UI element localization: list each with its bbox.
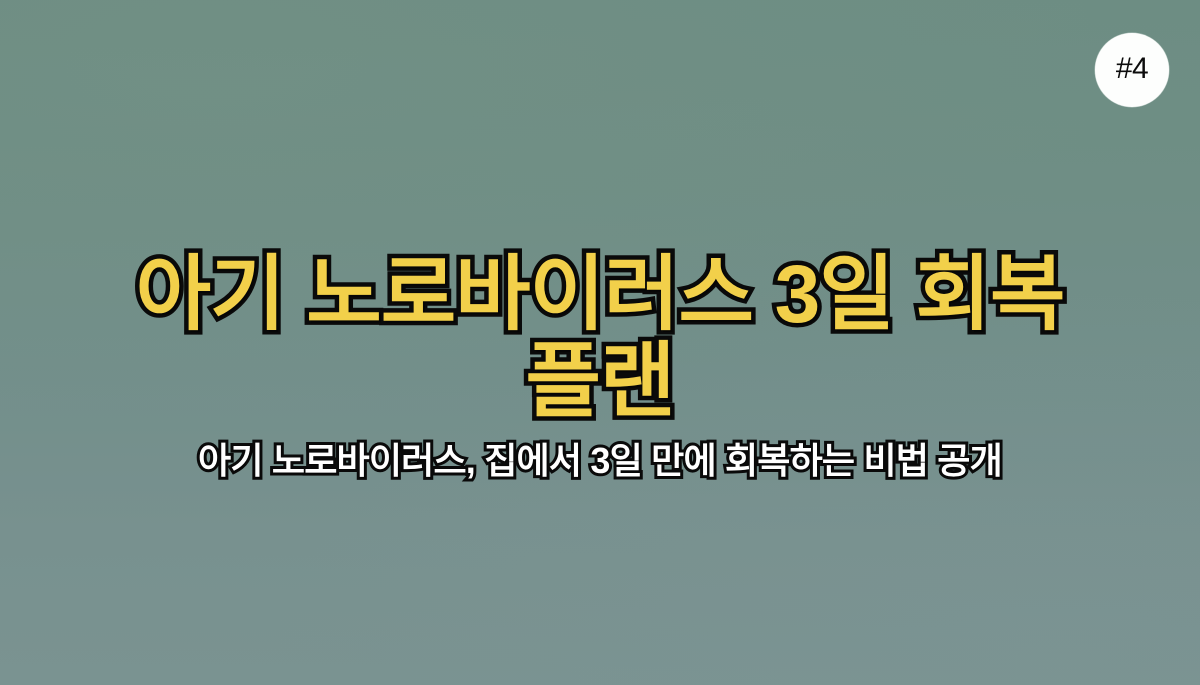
title-card: #4 아기 노로바이러스 3일 회복 플랜 아기 노로바이러스, 집에서 3일 … [0,0,1200,685]
page-title: 아기 노로바이러스 3일 회복 플랜 [60,252,1140,426]
page-subtitle: 아기 노로바이러스, 집에서 3일 만에 회복하는 비법 공개 [60,440,1140,481]
index-badge-label: #4 [1116,54,1148,84]
index-badge: #4 [1095,33,1169,107]
headline-block: 아기 노로바이러스 3일 회복 플랜 아기 노로바이러스, 집에서 3일 만에 … [0,252,1200,481]
